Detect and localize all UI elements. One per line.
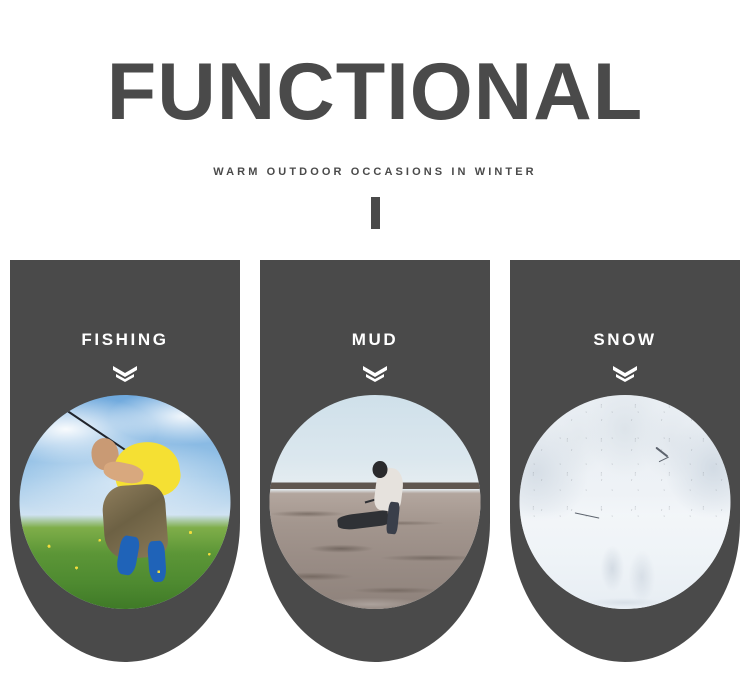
category-card-list: FISHING [10, 260, 740, 662]
page-subtitle: WARM OUTDOOR OCCASIONS IN WINTER [0, 166, 750, 178]
category-card-photo-snow [520, 395, 731, 609]
category-card-label: SNOW [510, 330, 740, 350]
functional-banner-page: FUNCTIONAL WARM OUTDOOR OCCASIONS IN WIN… [0, 0, 750, 679]
fishing-photo [20, 395, 231, 609]
fishing-flowers-shape [20, 511, 231, 609]
mud-photo [270, 395, 481, 609]
title-divider [371, 197, 380, 229]
category-card-photo-mud [270, 395, 481, 609]
title-divider-wrap [0, 197, 750, 231]
page-title: FUNCTIONAL [0, 52, 750, 133]
double-chevron-down-icon[interactable] [260, 364, 490, 384]
snow-path-tracks-shape [520, 528, 731, 609]
category-card-label: MUD [260, 330, 490, 350]
category-card-mud[interactable]: MUD [260, 260, 490, 662]
double-chevron-down-icon[interactable] [510, 364, 740, 384]
snow-photo [520, 395, 731, 609]
page-header: FUNCTIONAL WARM OUTDOOR OCCASIONS IN WIN… [0, 0, 750, 231]
double-chevron-down-icon[interactable] [10, 364, 240, 384]
category-card-snow[interactable]: SNOW [510, 260, 740, 662]
snow-branches-shape [520, 395, 731, 519]
category-card-fishing[interactable]: FISHING [10, 260, 240, 662]
category-card-label: FISHING [10, 330, 240, 350]
category-card-photo-fishing [20, 395, 231, 609]
